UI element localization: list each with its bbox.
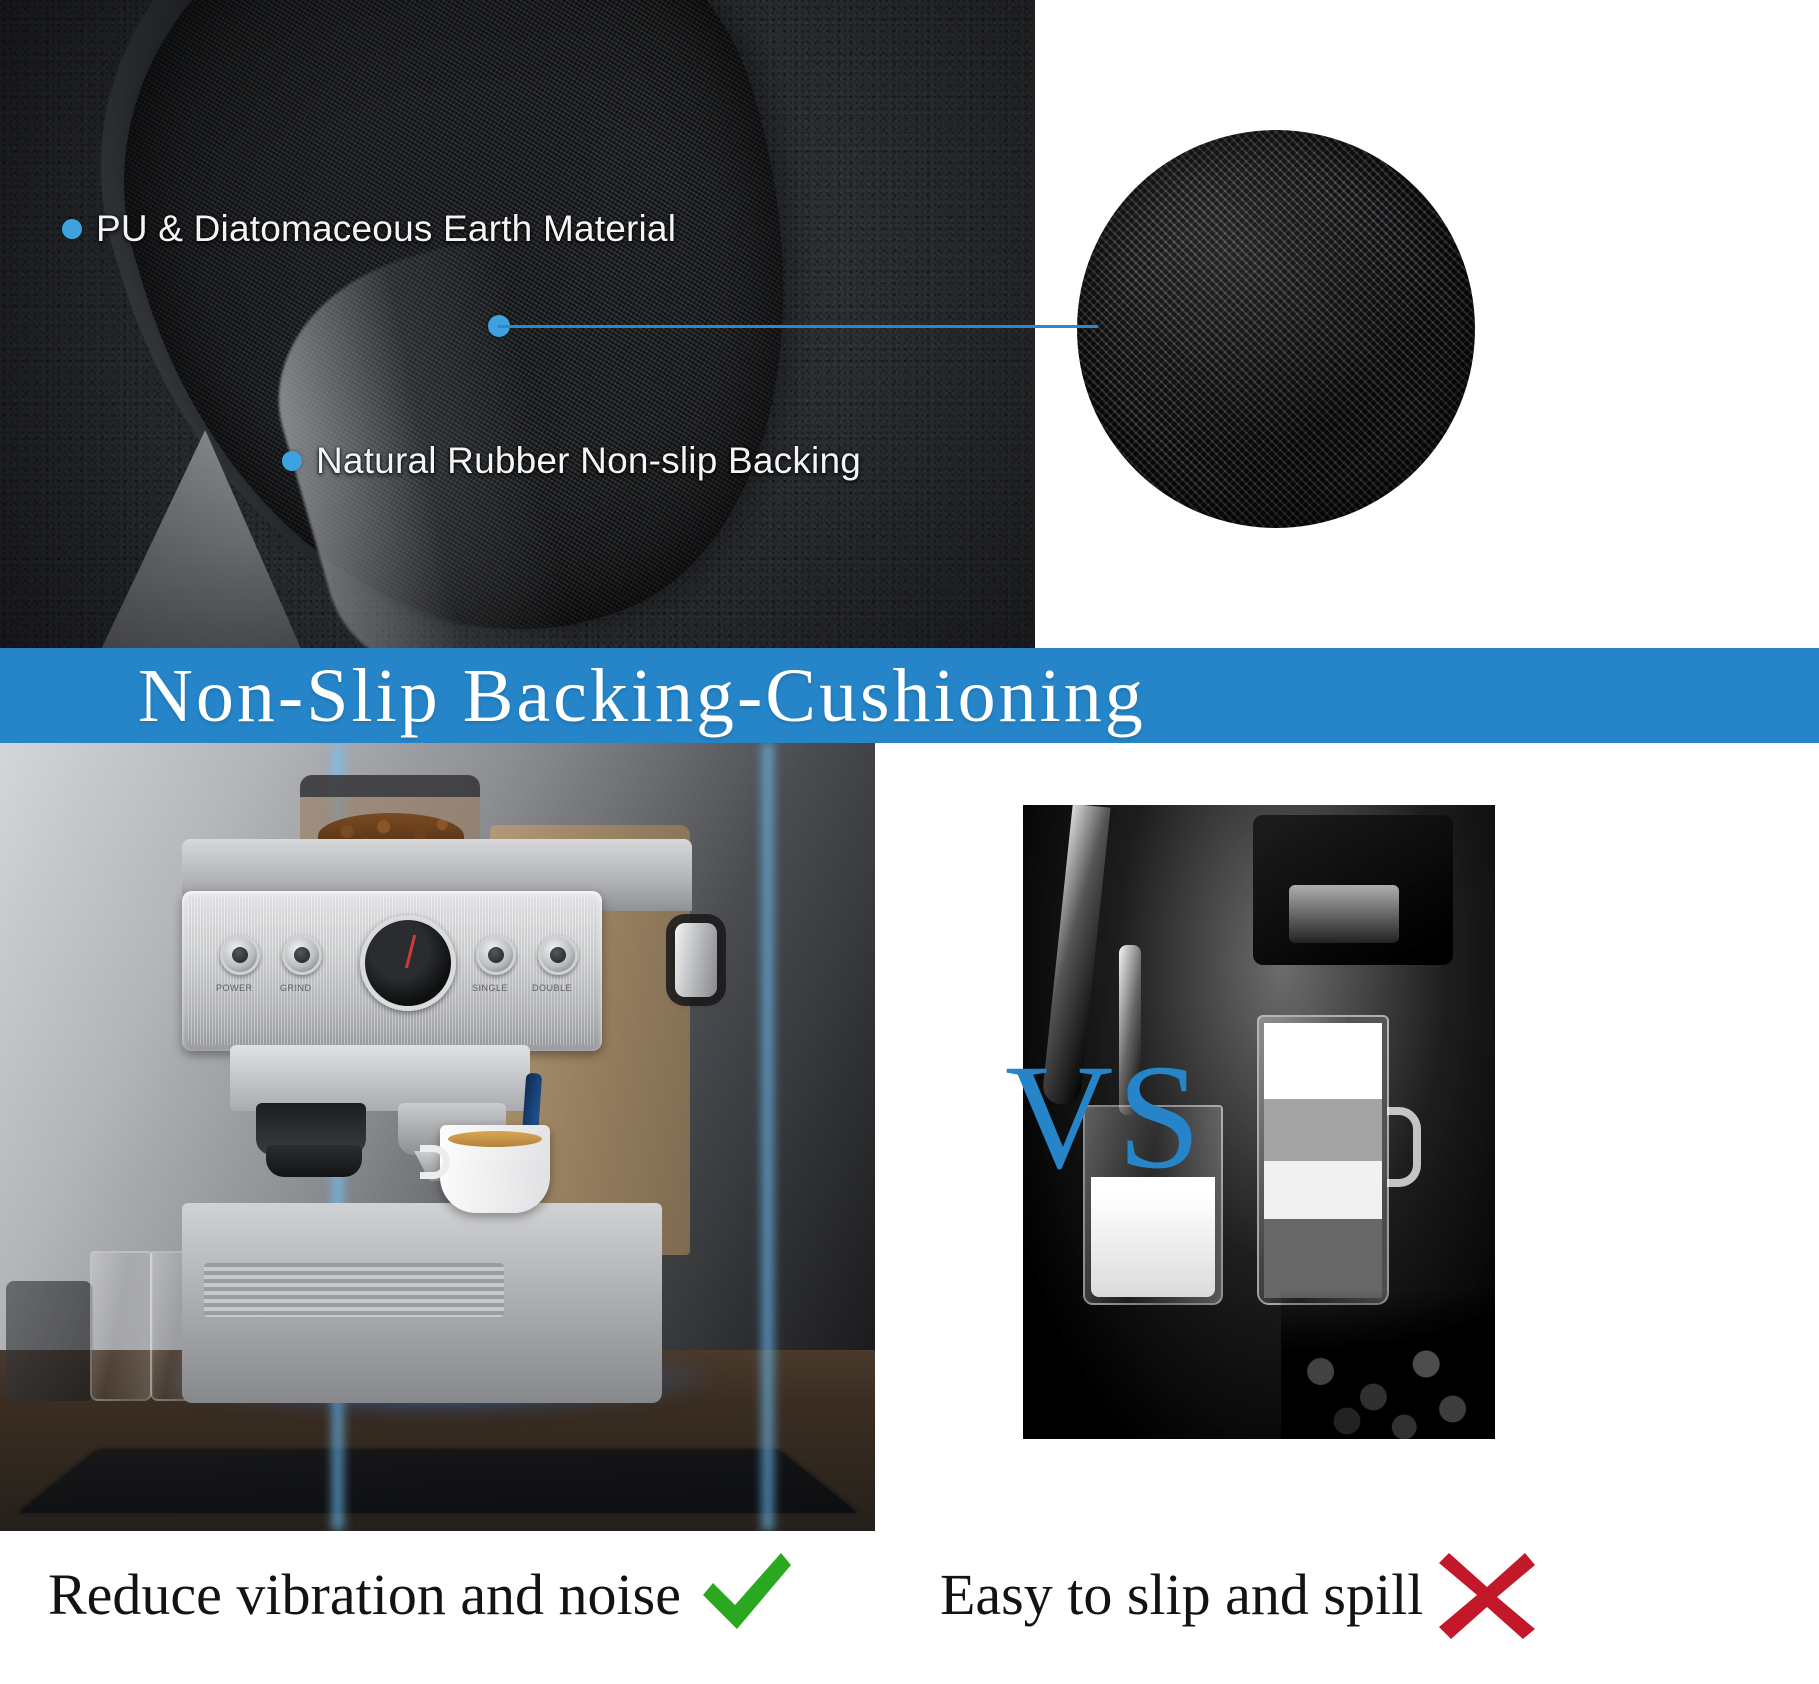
blue-glow-right [760,743,776,1531]
banner-title: Non-Slip Backing-Cushioning [138,658,1146,734]
portafilter-handle [266,1145,362,1177]
double-shot-label: DOUBLE [532,983,572,993]
caption-left-text: Reduce vibration and noise [48,1566,681,1624]
bw-latte-layer-2 [1264,1099,1382,1161]
callout-rubber-backing: Natural Rubber Non-slip Backing [282,440,861,482]
glass-cup [90,1251,152,1401]
drip-tray [204,1263,504,1317]
bullet-dot-icon [282,451,302,471]
vignette [0,0,1035,648]
machine-base [182,1203,662,1403]
magnifier-connector-line [498,325,1098,328]
pressure-gauge [360,915,456,1011]
callout-rubber-backing-label: Natural Rubber Non-slip Backing [316,440,861,482]
single-shot-button[interactable] [476,935,516,975]
bw-latte-layer-3 [1264,1161,1382,1219]
rubber-weave-magnified-circle [1077,130,1475,528]
steam-knob[interactable] [675,923,717,997]
gauge-needle-icon [405,934,416,968]
single-shot-label: SINGLE [472,983,508,993]
double-shot-button[interactable] [538,935,578,975]
bw-latte-layer-4 [1264,1219,1382,1298]
caption-right-text: Easy to slip and spill [940,1566,1423,1624]
red-cross-icon [1435,1549,1539,1641]
callout-pu-material-label: PU & Diatomaceous Earth Material [96,208,676,250]
group-head [230,1045,530,1111]
magnifier-panel [1035,0,1819,648]
control-panel: POWER GRIND SINGLE DOUBLE [182,891,602,1051]
espresso-cup [440,1125,550,1213]
green-check-icon [693,1549,797,1641]
cup-handle [420,1145,450,1179]
caption-easy-to-slip: Easy to slip and spill [940,1549,1539,1641]
bw-group-head [1253,815,1453,965]
anti-vibration-mat [18,1449,858,1513]
bw-latte-handle [1387,1107,1421,1187]
grind-button-label: GRIND [280,983,312,993]
kettle [6,1281,92,1401]
machine-with-mat-photo: POWER GRIND SINGLE DOUBLE [0,743,875,1531]
power-button[interactable] [220,935,260,975]
vs-label: VS [1005,1042,1205,1192]
bw-coffee-beans [1281,1289,1495,1439]
power-button-label: POWER [216,983,253,993]
espresso-machine: POWER GRIND SINGLE DOUBLE [170,773,700,1443]
headline-banner: Non-Slip Backing-Cushioning [0,648,1819,743]
mat-closeup-photo: PU & Diatomaceous Earth Material Natural… [0,0,1035,648]
callout-pu-material: PU & Diatomaceous Earth Material [62,208,676,250]
bw-latte-foam-layer [1264,1023,1382,1099]
bw-latte-glass [1257,1015,1389,1305]
grind-button[interactable] [282,935,322,975]
bullet-dot-icon [62,219,82,239]
infographic-page: PU & Diatomaceous Earth Material Natural… [0,0,1819,1684]
caption-reduce-vibration: Reduce vibration and noise [48,1549,797,1641]
caption-row: Reduce vibration and noise Easy to slip … [0,1531,1819,1684]
